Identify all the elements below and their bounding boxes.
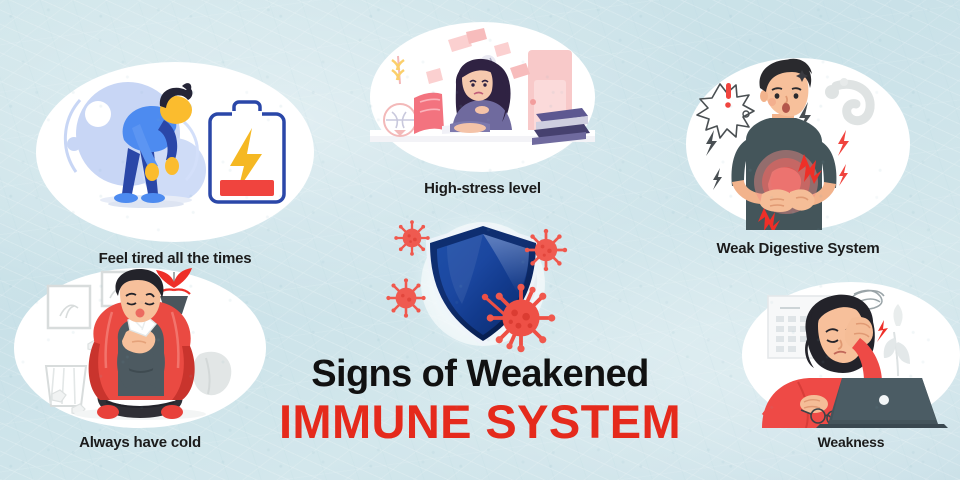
sign-card-cold: Always have cold: [14, 268, 266, 428]
oval-backdrop-stress: [370, 22, 595, 172]
caption-weakness: Weakness: [742, 434, 960, 450]
sign-card-stress: High-stress level: [370, 22, 595, 172]
caption-digestive: Weak Digestive System: [686, 240, 910, 257]
caption-stress: High-stress level: [370, 180, 595, 197]
sign-card-digestive: Weak Digestive System: [686, 58, 910, 230]
title-line-2: IMMUNE SYSTEM: [0, 397, 960, 446]
shield-with-viruses-icon: [378, 206, 588, 366]
oval-backdrop-cold: [14, 268, 266, 428]
caption-tired: Feel tired all the times: [36, 250, 314, 267]
oval-backdrop-weakness: [742, 282, 960, 428]
oval-backdrop-digestive: [686, 58, 910, 230]
caption-cold: Always have cold: [14, 434, 266, 451]
sign-card-tired: Feel tired all the times: [36, 62, 314, 242]
page-title: Signs of Weakened IMMUNE SYSTEM: [0, 355, 960, 446]
illustration-person-in-blanket-sneezing: [14, 268, 266, 428]
illustration-woman-with-headache-at-laptop: [742, 282, 960, 428]
oval-backdrop-tired: [36, 62, 314, 242]
illustration-man-with-stomach-ache: [686, 58, 910, 230]
illustration-stressed-student-at-desk: [370, 22, 595, 172]
title-line-1: Signs of Weakened: [0, 355, 960, 393]
illustration-tired-person-with-low-battery: [36, 62, 314, 242]
sign-card-weakness: Weakness: [742, 282, 960, 428]
infographic-canvas: Feel tired all the times: [0, 0, 960, 480]
